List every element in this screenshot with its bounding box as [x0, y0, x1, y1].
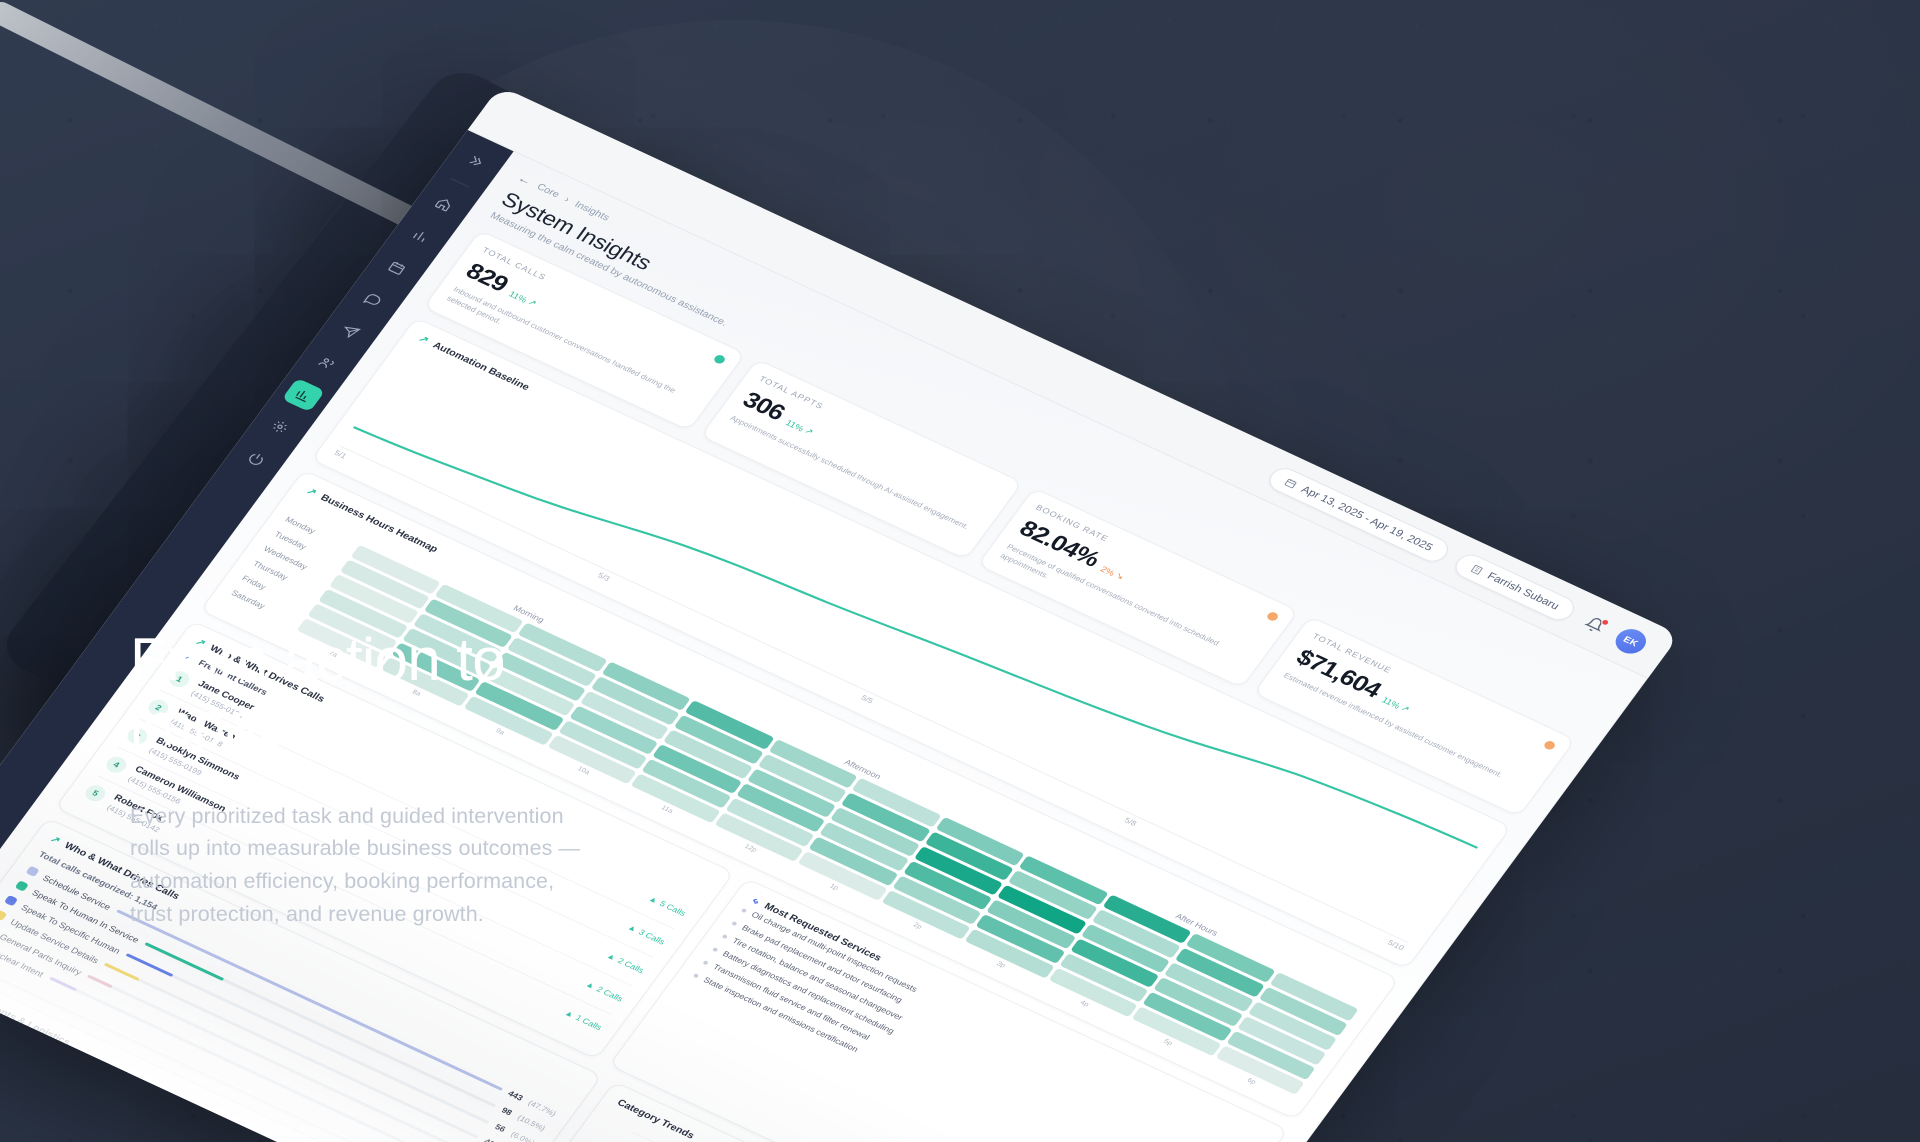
sidebar-item-send[interactable] [328, 314, 372, 348]
caller-rank: 5 [82, 783, 109, 805]
hero-body: Every prioritized task and guided interv… [130, 800, 600, 931]
chart-bars-icon [409, 227, 431, 245]
category-value: 98 [499, 1106, 513, 1117]
trend-icon: ↗ [304, 486, 319, 499]
sidebar-item-insights[interactable] [282, 378, 326, 412]
sidebar-collapse-toggle[interactable] [454, 144, 498, 178]
caller-call-count: ▲2 Calls [605, 951, 646, 975]
chat-icon [362, 291, 384, 309]
hero-headline: From action to impact. [130, 628, 600, 758]
sidebar-divider [450, 178, 469, 187]
trend-up-icon: ▲ [647, 894, 660, 905]
kpi-change: 11%↗ [784, 417, 816, 438]
account-name: Farrish Subaru [1485, 570, 1562, 612]
kpi-change: 11%↗ [1380, 694, 1412, 715]
trend-icon: ↗ [416, 333, 431, 346]
home-icon [433, 195, 455, 213]
sidebar-item-analytics[interactable] [399, 219, 443, 253]
sidebar-item-logout[interactable] [235, 441, 279, 475]
category-value: 56 [493, 1123, 507, 1134]
users-icon [316, 354, 338, 372]
avatar[interactable]: EK [1610, 624, 1652, 657]
sidebar-item-users[interactable] [305, 346, 349, 380]
category-swatch [25, 866, 39, 878]
notifications-button[interactable] [1578, 610, 1613, 638]
breadcrumb-separator: › [562, 194, 572, 204]
settings-icon [269, 418, 291, 436]
bullet-icon [722, 934, 728, 939]
bullet-icon [693, 973, 699, 978]
caller-call-count: ▲5 Calls [647, 894, 688, 918]
caller-call-count: ▲2 Calls [584, 980, 625, 1004]
caller-call-count: ▲3 Calls [626, 923, 667, 947]
category-swatch [4, 895, 18, 907]
category-swatch [14, 880, 28, 892]
kpi-change: 2%↘ [1099, 563, 1127, 582]
trend-up-icon: ▲ [584, 980, 597, 991]
trend-up-icon: ▲ [605, 951, 618, 962]
back-button[interactable]: ← [515, 171, 535, 188]
category-value: 443 [506, 1089, 525, 1103]
building-icon [1469, 563, 1485, 576]
breadcrumb-core[interactable]: Core [535, 181, 562, 200]
trend-up-icon: ▲ [563, 1008, 576, 1019]
insights-icon [292, 386, 314, 404]
bullet-icon [731, 921, 737, 926]
bullet-icon [741, 908, 747, 913]
chevrons-right-icon [464, 152, 486, 170]
kpi-change: 11%↗ [507, 288, 539, 309]
category-swatch [0, 910, 7, 922]
sidebar-item-settings[interactable] [258, 410, 302, 444]
hero-copy: From action to impact. Every prioritized… [130, 628, 600, 930]
caller-call-count: ▲1 Calls [563, 1008, 604, 1032]
caller-rank: 4 [103, 754, 130, 776]
power-icon [245, 450, 267, 468]
calendar-icon [386, 259, 408, 277]
calendar-icon [1283, 476, 1299, 489]
category-value: 40 [482, 1137, 496, 1142]
trend-icon: ↗ [48, 834, 63, 847]
bullet-icon [712, 947, 718, 952]
sidebar-item-messages[interactable] [352, 283, 396, 317]
trend-up-icon: ▲ [626, 923, 639, 934]
send-icon [339, 322, 361, 340]
sidebar-item-home[interactable] [422, 187, 466, 221]
bullet-icon [703, 960, 709, 965]
sidebar-item-calendar[interactable] [375, 251, 419, 285]
